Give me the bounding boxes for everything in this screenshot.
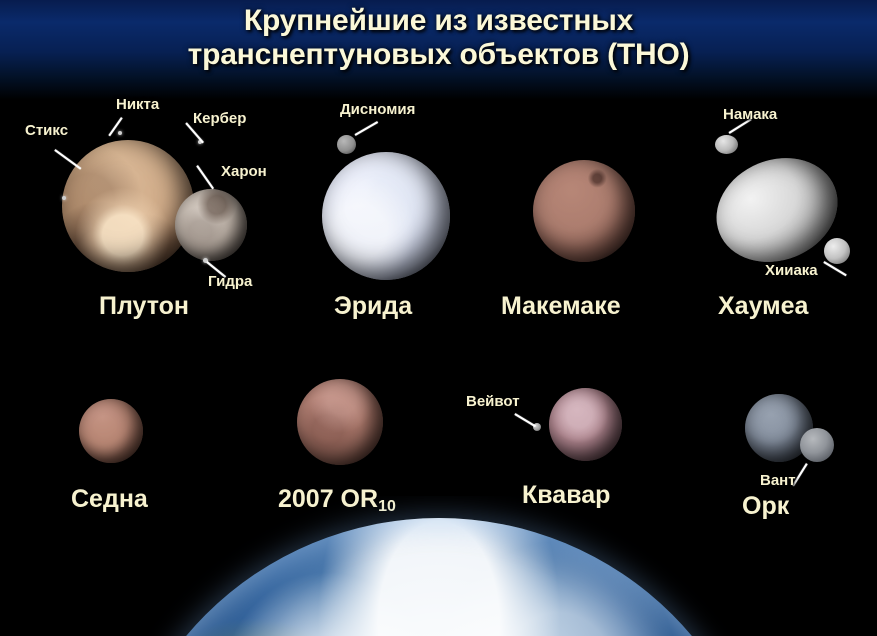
- moon-label-charon: Харон: [221, 163, 267, 180]
- body-label-makemake: Макемаке: [501, 292, 621, 321]
- title-line-2: транснептуновых объектов (ТНО): [0, 38, 877, 72]
- body-quaoar: [549, 388, 622, 461]
- moon-label-nix: Никта: [116, 96, 159, 113]
- leader-line-weywot: [515, 413, 536, 427]
- leader-line-styx: [55, 149, 82, 169]
- body-makemake: [533, 160, 635, 262]
- leader-line-dysnomia: [355, 121, 378, 135]
- body-charon: [175, 189, 247, 261]
- body-namaka: [715, 135, 738, 154]
- body-label-eris: Эрида: [334, 292, 412, 321]
- moon-label-dysnomia: Дисномия: [340, 101, 415, 118]
- moon-label-hiiaka: Хииака: [765, 262, 818, 279]
- moon-label-vanth: Вант: [760, 472, 796, 489]
- moon-label-styx: Стикс: [25, 122, 68, 139]
- moon-label-kerberos: Кербер: [193, 110, 246, 127]
- page-title: Крупнейшие из известных транснептуновых …: [0, 4, 877, 71]
- body-label-haumea: Хаумеа: [718, 292, 808, 321]
- moon-dot-nix: [118, 131, 122, 135]
- leader-line-charon: [196, 165, 213, 189]
- moon-label-namaka: Намака: [723, 106, 777, 123]
- earth-section: [0, 496, 877, 636]
- body-dysnomia: [337, 135, 356, 154]
- body-hiiaka: [824, 238, 850, 264]
- body-vanth: [800, 428, 834, 462]
- body-2007-or10: [297, 379, 383, 465]
- body-pluto: [62, 140, 194, 272]
- body-label-pluto: Плутон: [99, 292, 189, 321]
- body-sedna: [79, 399, 143, 463]
- tno-poster: Крупнейшие из известных транснептуновых …: [0, 0, 877, 636]
- moon-dot-styx: [62, 196, 66, 200]
- moon-label-weywot: Вейвот: [466, 393, 520, 410]
- title-line-1: Крупнейшие из известных: [244, 4, 633, 37]
- body-eris: [322, 152, 450, 280]
- poster-header: Крупнейшие из известных транснептуновых …: [0, 0, 877, 100]
- earth-atmosphere-glow: [109, 518, 769, 636]
- moon-label-hydra: Гидра: [208, 273, 252, 290]
